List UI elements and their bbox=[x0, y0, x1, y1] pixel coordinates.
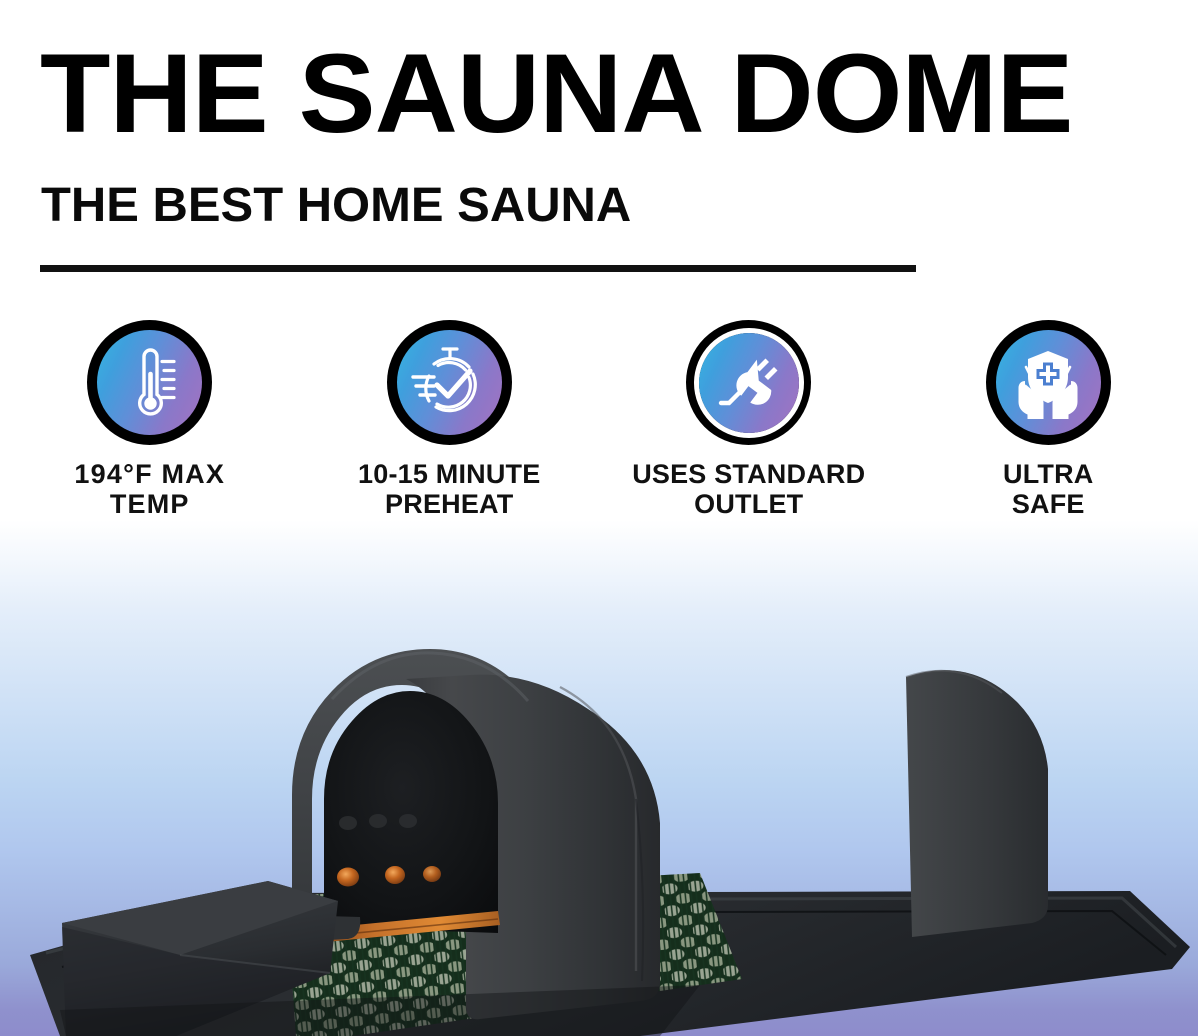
interior-detail bbox=[339, 816, 357, 830]
heater-bulb-3 bbox=[423, 866, 441, 882]
page-title: THE SAUNA DOME bbox=[40, 38, 1072, 150]
badge-gradient-disc bbox=[699, 333, 799, 433]
feature-item-max-temp: 194°F MAX TEMP bbox=[0, 320, 300, 550]
heater-bulb-2 bbox=[385, 866, 405, 884]
feature-item-preheat: 10-15 MINUTE PREHEAT bbox=[300, 320, 600, 550]
feature-item-ultra-safe: ULTRA SAFE bbox=[899, 320, 1198, 550]
feature-label-standard-outlet: USES STANDARD OUTLET bbox=[632, 459, 865, 519]
sauna-dome-illustration bbox=[0, 555, 1198, 1036]
stopwatch-check-icon bbox=[407, 341, 491, 425]
power-plug-icon bbox=[711, 345, 787, 421]
hands-shield-safety-icon bbox=[1006, 341, 1090, 425]
feature-label-preheat: 10-15 MINUTE PREHEAT bbox=[358, 459, 540, 519]
safety-badge bbox=[986, 320, 1111, 445]
badge-gradient-disc bbox=[97, 330, 202, 435]
thermometer-icon bbox=[111, 344, 189, 422]
power-plug-badge bbox=[686, 320, 811, 445]
page-subtitle: THE BEST HOME SAUNA bbox=[41, 182, 631, 230]
badge-gradient-disc bbox=[996, 330, 1101, 435]
heater-bulb-1 bbox=[337, 868, 359, 887]
dome-rear-segment bbox=[906, 670, 1048, 937]
arch-opening bbox=[324, 691, 498, 933]
interior-detail bbox=[399, 814, 417, 828]
sauna-dome-promo-page: THE SAUNA DOME THE BEST HOME SAUNA bbox=[0, 0, 1198, 1036]
thermometer-badge bbox=[87, 320, 212, 445]
header-divider bbox=[40, 265, 916, 272]
feature-item-standard-outlet: USES STANDARD OUTLET bbox=[599, 320, 899, 550]
feature-list: 194°F MAX TEMP bbox=[0, 320, 1198, 550]
badge-gradient-disc bbox=[397, 330, 502, 435]
product-image bbox=[0, 555, 1198, 1036]
feature-label-max-temp: 194°F MAX TEMP bbox=[74, 459, 225, 519]
interior-detail bbox=[369, 814, 387, 828]
stopwatch-badge bbox=[387, 320, 512, 445]
feature-label-ultra-safe: ULTRA SAFE bbox=[1003, 459, 1093, 519]
